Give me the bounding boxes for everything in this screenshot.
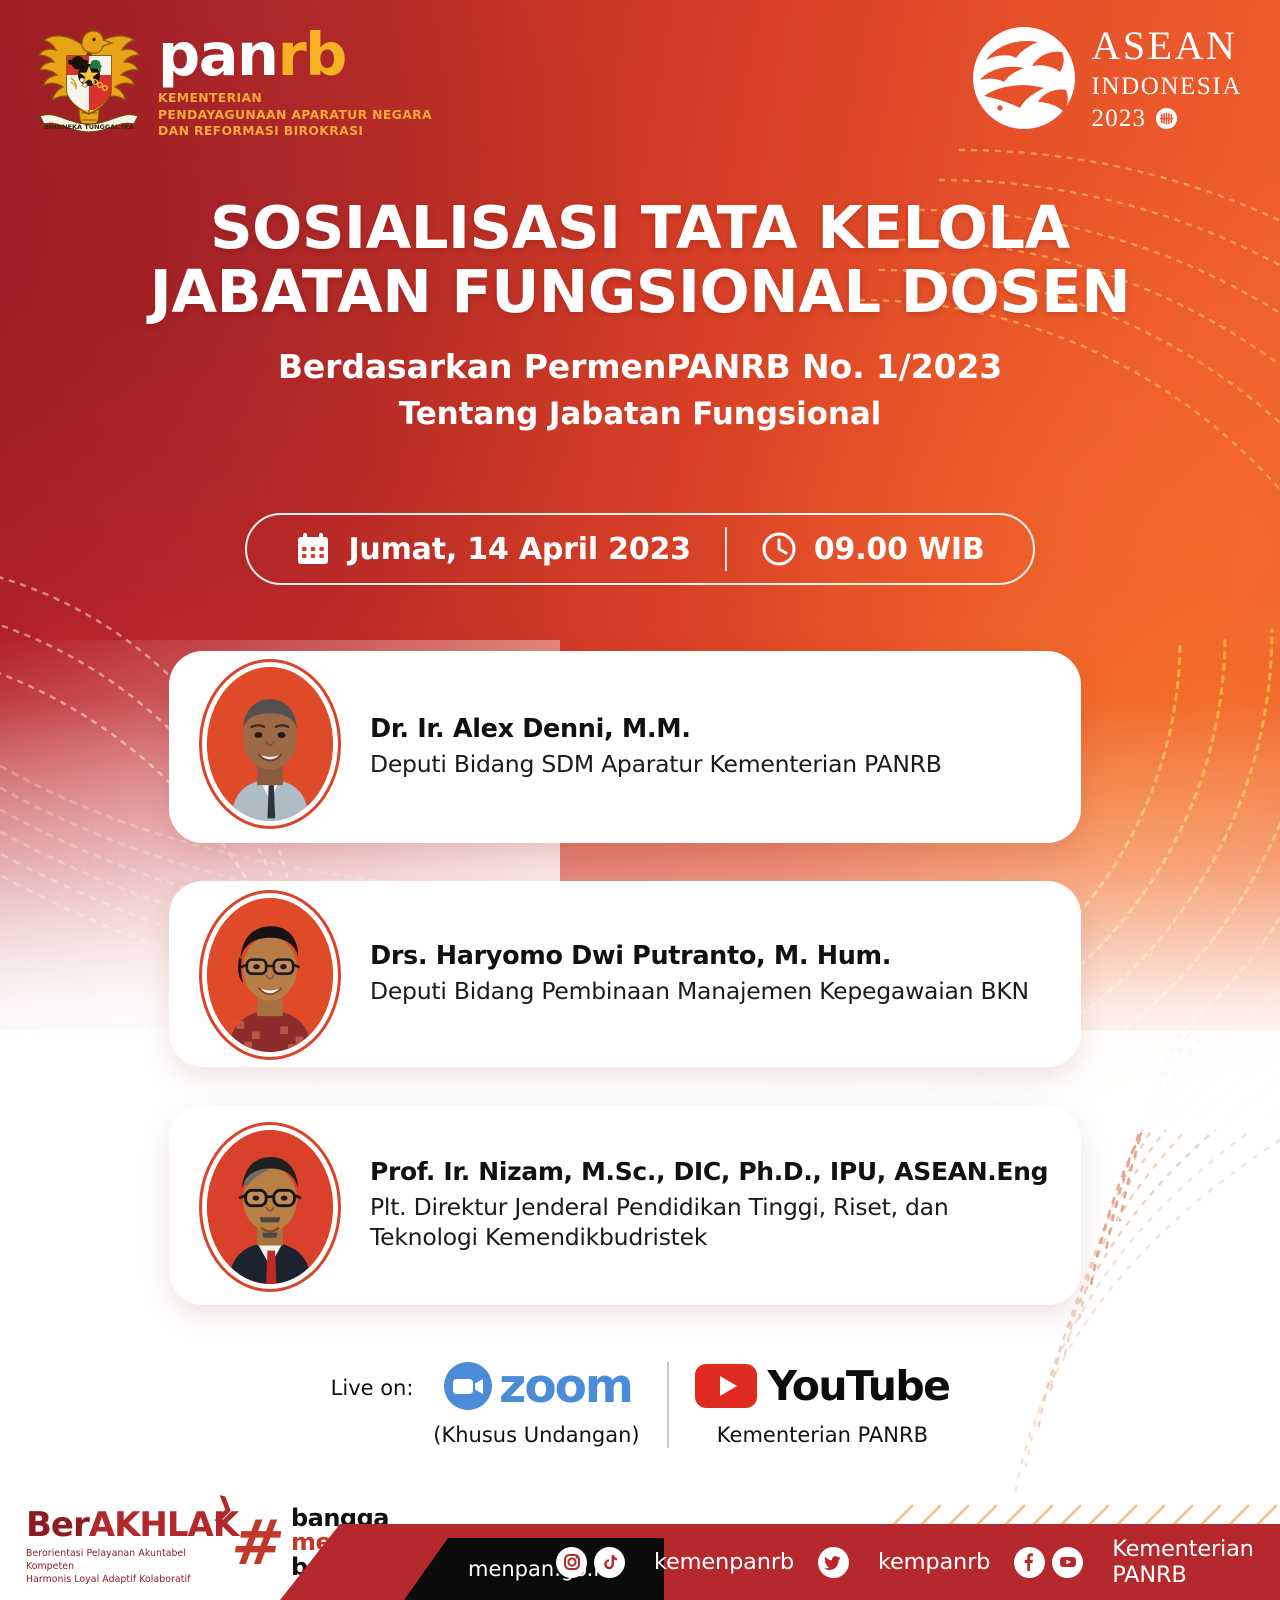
panrb-wordmark-pan: pan	[158, 20, 278, 89]
live-divider	[667, 1362, 669, 1448]
speaker-info: Drs. Haryomo Dwi Putranto, M. Hum. Deput…	[341, 941, 1055, 1007]
event-datetime-pill: Jumat, 14 April 2023 09.00 WIB	[245, 513, 1035, 585]
ministry-name: KEMENTERIAN PENDAYAGUNAAN APARATUR NEGAR…	[158, 90, 432, 140]
instagram-icon[interactable]	[556, 1547, 587, 1578]
speaker-name: Prof. Ir. Nizam, M.Sc., DIC, Ph.D., IPU,…	[370, 1157, 1055, 1188]
footer-bar: menpan.go.id kemenpanrb kempanrb	[0, 1524, 1280, 1600]
social-handle: kempanrb	[878, 1549, 990, 1575]
clock-icon	[761, 531, 797, 567]
asean-year-row: 2023	[1092, 106, 1243, 131]
speaker-info: Dr. Ir. Alex Denni, M.M. Deputi Bidang S…	[341, 714, 968, 780]
social-group-instagram-tiktok	[556, 1547, 625, 1578]
panrb-wordmark: panrb	[158, 28, 432, 81]
avatar	[199, 1122, 341, 1292]
youtube-play-icon	[695, 1364, 757, 1408]
subtitle-line-1: Berdasarkan PermenPANRB No. 1/2023	[0, 347, 1280, 386]
youtube-channel: Kementerian PANRB	[717, 1423, 928, 1447]
avatar-photo	[207, 1130, 333, 1284]
zoom-note: (Khusus Undangan)	[433, 1423, 639, 1447]
event-date-group: Jumat, 14 April 2023	[261, 531, 724, 567]
social-handle: kemenpanrb	[654, 1549, 794, 1575]
ministry-line-2: PENDAYAGUNAAN APARATUR NEGARA	[158, 107, 432, 124]
facebook-icon[interactable]	[1014, 1547, 1045, 1578]
twitter-icon[interactable]	[818, 1547, 849, 1578]
social-group-twitter	[818, 1547, 849, 1578]
subtitle-line-2: Tentang Jabatan Fungsional	[0, 396, 1280, 432]
asean-country: INDONESIA	[1092, 74, 1243, 99]
avatar-photo	[207, 898, 333, 1052]
garuda-pancasila-icon: BHINNEKA TUNGGAL IKA	[34, 24, 144, 136]
event-time-text: 09.00 WIB	[814, 532, 985, 567]
ministry-line-3: DAN REFORMASI BIROKRASI	[158, 123, 432, 140]
youtube-logo[interactable]: YouTube	[695, 1358, 949, 1414]
speaker-card: Dr. Ir. Alex Denni, M.M. Deputi Bidang S…	[169, 651, 1081, 843]
asean-2023-logo: ASEAN INDONESIA 2023	[970, 24, 1243, 132]
title-line-2: JABATAN FUNGSIONAL DOSEN	[0, 260, 1280, 324]
event-time-group: 09.00 WIB	[727, 531, 1019, 567]
speaker-card: Drs. Haryomo Dwi Putranto, M. Hum. Deput…	[169, 881, 1081, 1067]
panrb-wordmark-rb: rb	[278, 20, 346, 89]
asean-emblem-icon	[1155, 107, 1178, 130]
speaker-info: Prof. Ir. Nizam, M.Sc., DIC, Ph.D., IPU,…	[341, 1157, 1081, 1252]
tiktok-icon[interactable]	[594, 1547, 625, 1578]
youtube-block: YouTube Kementerian PANRB	[695, 1358, 949, 1447]
event-date-text: Jumat, 14 April 2023	[348, 532, 690, 567]
asean-globe-icon	[970, 24, 1078, 132]
avatar	[199, 890, 341, 1060]
ministry-line-1: KEMENTERIAN	[158, 90, 432, 107]
title-line-1: SOSIALISASI TATA KELOLA	[0, 196, 1280, 260]
svg-text:BHINNEKA TUNGGAL IKA: BHINNEKA TUNGGAL IKA	[44, 123, 134, 131]
poster-root: BHINNEKA TUNGGAL IKA panrb KEMENTERIAN P…	[0, 0, 1280, 1600]
live-on-label: Live on:	[331, 1376, 414, 1400]
speaker-name: Dr. Ir. Alex Denni, M.M.	[370, 714, 942, 745]
speaker-card: Prof. Ir. Nizam, M.Sc., DIC, Ph.D., IPU,…	[169, 1105, 1081, 1305]
youtube-wordmark: YouTube	[767, 1366, 949, 1407]
social-links: kemenpanrb kempanrb Kementerian PANRB	[556, 1524, 1280, 1600]
asean-year: 2023	[1092, 106, 1147, 131]
avatar	[199, 659, 341, 829]
poster-title-block: SOSIALISASI TATA KELOLA JABATAN FUNGSION…	[0, 196, 1280, 432]
speaker-role: Deputi Bidang Pembinaan Manajemen Kepega…	[370, 977, 1029, 1007]
panrb-logo: BHINNEKA TUNGGAL IKA panrb KEMENTERIAN P…	[34, 24, 432, 140]
social-group-facebook-youtube	[1014, 1547, 1083, 1578]
zoom-wordmark: zoom	[499, 1363, 632, 1410]
live-on-section: Live on: zoom (Khusus Undangan) YouTube …	[0, 1358, 1280, 1448]
calendar-icon	[295, 531, 331, 567]
youtube-icon[interactable]	[1052, 1547, 1083, 1578]
speaker-role: Plt. Direktur Jenderal Pendidikan Tinggi…	[370, 1193, 1055, 1253]
zoom-camera-icon	[441, 1359, 495, 1413]
avatar-photo	[207, 667, 333, 821]
asean-title: ASEAN	[1092, 26, 1243, 66]
speaker-name: Drs. Haryomo Dwi Putranto, M. Hum.	[370, 941, 1029, 972]
speaker-role: Deputi Bidang SDM Aparatur Kementerian P…	[370, 750, 942, 780]
social-handle: Kementerian PANRB	[1112, 1536, 1256, 1588]
zoom-block: zoom (Khusus Undangan)	[431, 1358, 641, 1447]
zoom-logo[interactable]: zoom	[441, 1358, 632, 1414]
